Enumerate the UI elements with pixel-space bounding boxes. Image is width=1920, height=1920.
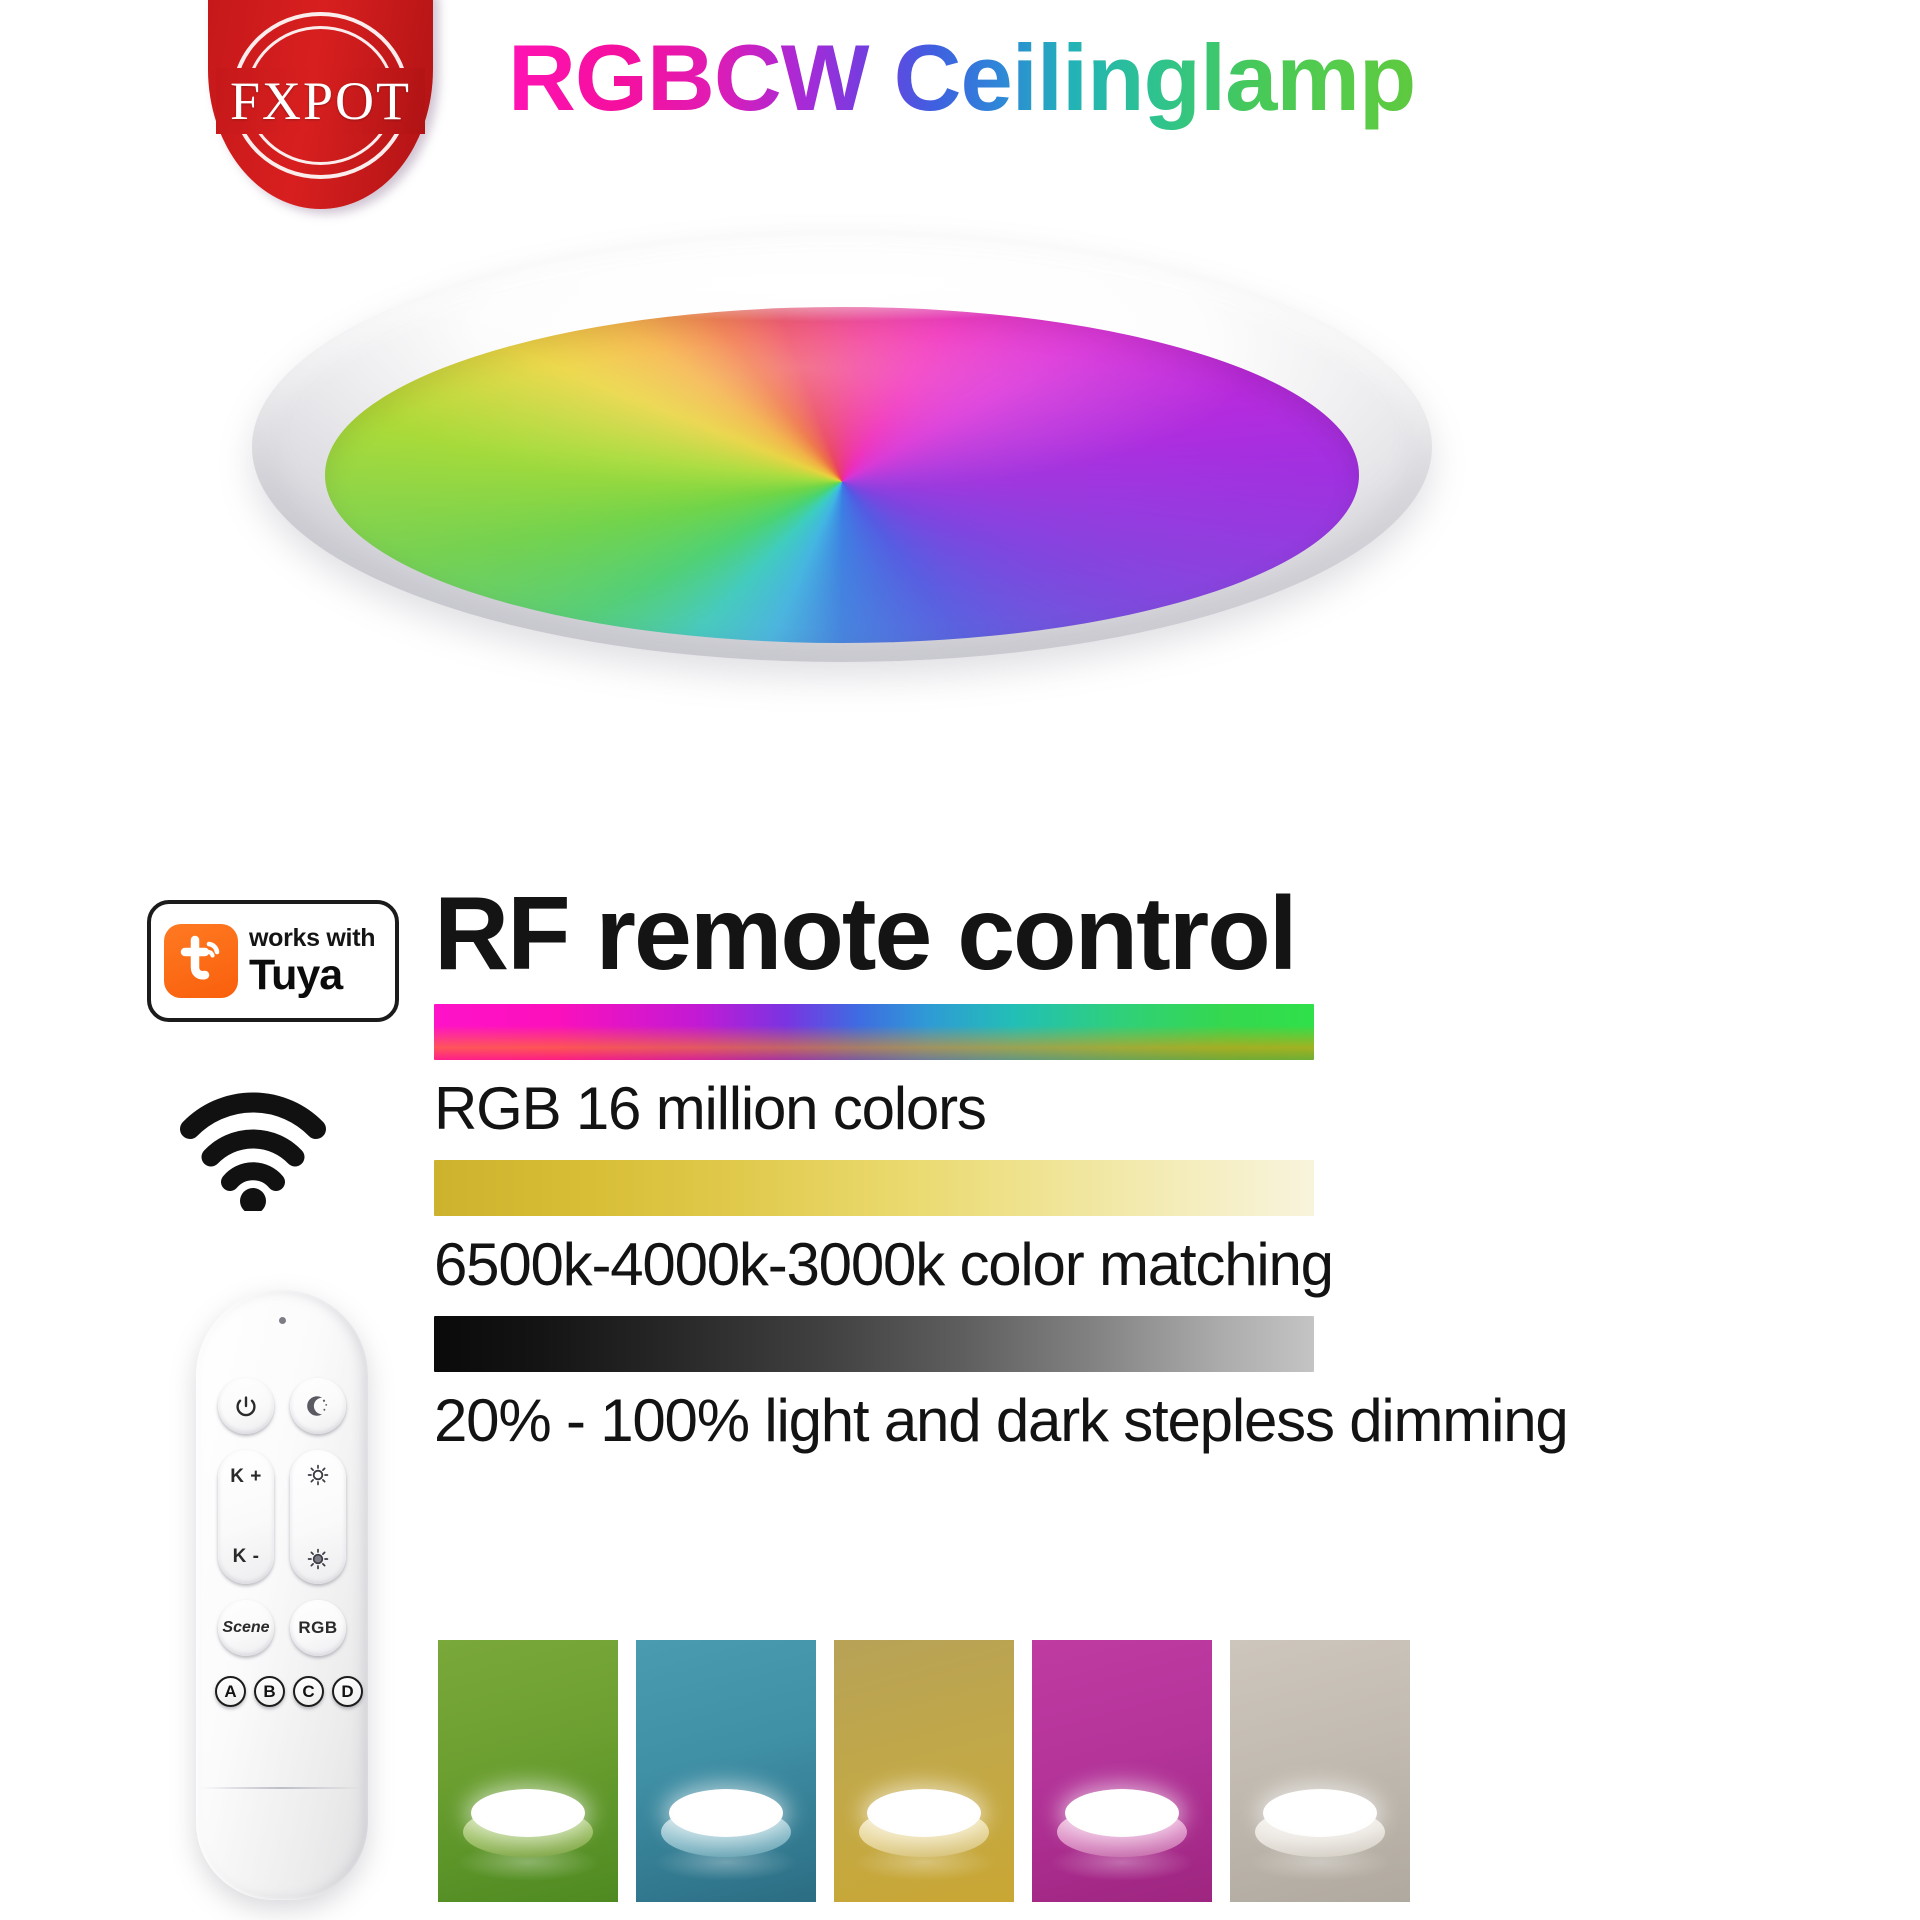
logo-wordmark: FXPOT [208, 70, 433, 132]
scene-lamp [463, 1789, 593, 1857]
remote-night-mode-button[interactable] [290, 1378, 346, 1434]
dimming-caption: 20% - 100% light and dark stepless dimmi… [434, 1386, 1874, 1456]
scene-lamp [859, 1789, 989, 1857]
remote-zone-c-label: C [302, 1683, 314, 1700]
remote-k-minus-label: K - [233, 1546, 260, 1568]
scene-lamp [1255, 1789, 1385, 1857]
remote-zone-a-label: A [224, 1683, 236, 1700]
scene-lamp-glow [669, 1789, 783, 1837]
cct-caption: 6500k-4000k-3000k color matching [434, 1230, 1874, 1300]
remote-indicator-led [279, 1317, 286, 1324]
tuya-brand-label: Tuya [249, 954, 375, 997]
remote-zone-b-button[interactable]: B [254, 1676, 285, 1707]
tuya-t-glyph [164, 924, 238, 998]
tuya-works-with-label: works with [249, 926, 375, 951]
scene-thumbnail-row [438, 1640, 1410, 1902]
remote-zone-c-button[interactable]: C [293, 1676, 324, 1707]
remote-k-plus-label: K + [230, 1466, 262, 1488]
remote-scene-button[interactable]: Scene [218, 1600, 274, 1656]
scene-lamp-glow [471, 1789, 585, 1837]
scene-lamp [661, 1789, 791, 1857]
scene-lamp-glow [1263, 1789, 1377, 1837]
brightness-up-icon [304, 1461, 332, 1489]
rf-remote-control: K + K - Scene RGB [196, 1290, 368, 1900]
remote-zone-d-label: D [341, 1683, 353, 1700]
brightness-down-icon [304, 1545, 332, 1573]
rgb-gradient-bar [434, 1004, 1314, 1060]
remote-zone-d-button[interactable]: D [332, 1676, 363, 1707]
remote-brightness-rocker[interactable] [290, 1450, 346, 1584]
scene-lamp-glow [867, 1789, 981, 1837]
remote-rgb-button[interactable]: RGB [290, 1600, 346, 1656]
feature-cct: 6500k-4000k-3000k color matching [434, 1160, 1874, 1300]
works-with-tuya-badge: works with Tuya [147, 900, 399, 1022]
scene-thumb-amber [834, 1640, 1014, 1902]
remote-zone-b-label: B [263, 1683, 275, 1700]
page-title: RGBCW Ceilinglamp [508, 26, 1415, 130]
tuya-logo-icon [164, 924, 238, 998]
feature-rgb: RGB 16 million colors [434, 1004, 1874, 1144]
feature-dimming: 20% - 100% light and dark stepless dimmi… [434, 1316, 1874, 1456]
rgb-caption: RGB 16 million colors [434, 1074, 1874, 1144]
hero-product-image [252, 232, 1432, 662]
remote-zone-a-button[interactable]: A [215, 1676, 246, 1707]
scene-lamp-glow [1065, 1789, 1179, 1837]
wifi-icon [178, 1085, 328, 1211]
remote-power-button[interactable] [218, 1378, 274, 1434]
lamp-highlight [488, 249, 1172, 322]
page-header: FXPOT RGBCW Ceilinglamp [0, 0, 1920, 230]
power-icon [232, 1392, 260, 1420]
cct-gradient-bar [434, 1160, 1314, 1216]
scene-thumb-neutral [1230, 1640, 1410, 1902]
dimming-gradient-bar [434, 1316, 1314, 1372]
brand-logo: FXPOT [208, 0, 433, 209]
moon-icon [303, 1391, 333, 1421]
remote-body-seam [200, 1787, 364, 1789]
scene-thumb-magenta [1032, 1640, 1212, 1902]
remote-rgb-label: RGB [298, 1618, 337, 1638]
scene-thumb-green [438, 1640, 618, 1902]
feature-list: RF remote control RGB 16 million colors … [434, 880, 1874, 1456]
rf-remote-heading: RF remote control [434, 880, 1874, 988]
tuya-text-block: works with Tuya [249, 926, 375, 997]
remote-scene-label: Scene [222, 1619, 269, 1637]
scene-thumb-teal [636, 1640, 816, 1902]
remote-color-temp-rocker[interactable]: K + K - [218, 1450, 274, 1584]
scene-lamp [1057, 1789, 1187, 1857]
